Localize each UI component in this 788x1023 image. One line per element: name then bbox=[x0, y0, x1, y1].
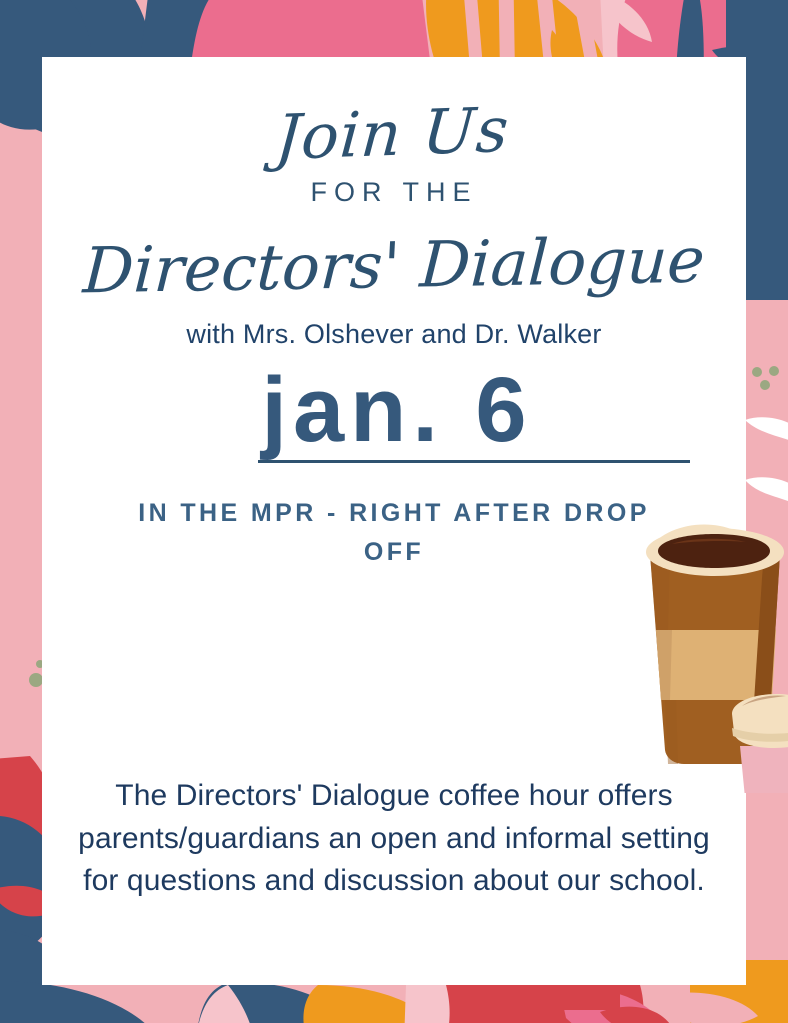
date-underline bbox=[258, 460, 690, 463]
description-text: The Directors' Dialogue coffee hour offe… bbox=[68, 775, 720, 903]
circle-dot bbox=[760, 380, 770, 390]
date-block: jan. 6 bbox=[42, 362, 746, 472]
poster-content: Join Us FOR THE Directors' Dialogue with… bbox=[42, 57, 746, 985]
join-us-heading: Join Us bbox=[37, 45, 751, 178]
presenters-line: with Mrs. Olshever and Dr. Walker bbox=[42, 319, 746, 350]
circle-dot bbox=[752, 367, 762, 377]
event-title: Directors' Dialogue bbox=[40, 228, 748, 303]
circle-dot bbox=[29, 673, 43, 687]
circle-dot bbox=[769, 366, 779, 376]
organic-blob bbox=[0, 330, 42, 360]
event-date: jan. 6 bbox=[42, 362, 746, 459]
organic-blob bbox=[470, 985, 620, 1010]
poster: Join Us FOR THE Directors' Dialogue with… bbox=[0, 0, 788, 1023]
for-the-label: FOR THE bbox=[42, 177, 746, 208]
organic-blob bbox=[404, 985, 450, 1023]
venue-line: IN THE MPR - RIGHT AFTER DROP OFF bbox=[42, 494, 746, 572]
